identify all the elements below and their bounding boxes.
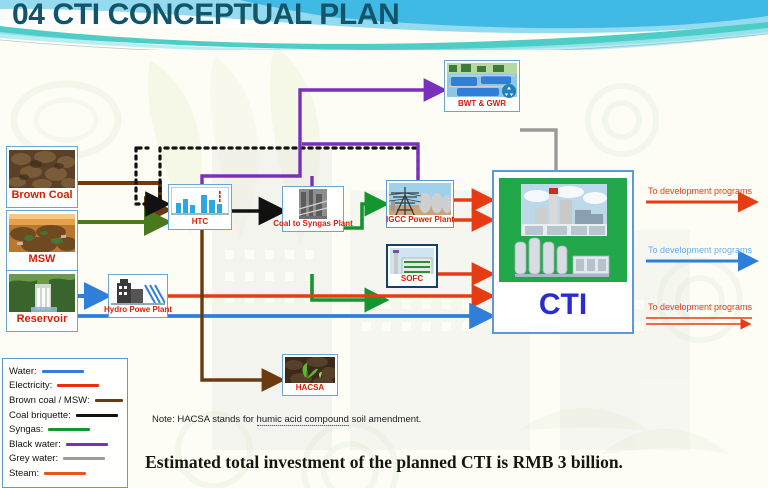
wire-browncoal-to-htc — [78, 183, 168, 210]
page-title: 04 CTI CONCEPTUAL PLAN — [12, 0, 399, 32]
node-cti[interactable]: CTI — [492, 170, 634, 334]
slide-header: 04 CTI CONCEPTUAL PLAN — [0, 0, 768, 48]
node-msw[interactable]: MSW — [6, 210, 78, 272]
node-label: Coal to Syngas Plant — [272, 219, 354, 229]
legend-swatch-blackwater — [66, 443, 108, 446]
node-brown-coal[interactable]: Brown Coal — [6, 146, 78, 208]
footer-statement: Estimated total investment of the planne… — [0, 452, 768, 473]
node-reservoir[interactable]: Reservoir — [6, 270, 78, 332]
node-label: MSW — [28, 254, 57, 264]
node-label: HTC — [191, 217, 209, 227]
legend-label: Brown coal / MSW: — [9, 395, 90, 406]
node-htc[interactable]: HTC — [168, 184, 232, 230]
dam-reservoir-photo — [9, 274, 75, 312]
fuel-cell-plant-photo — [390, 248, 434, 274]
water-treatment-photo — [447, 63, 517, 99]
output-label-3: To development programs — [648, 302, 752, 312]
seedling-soil-photo — [285, 357, 335, 383]
note-suffix: soil amendment. — [349, 414, 421, 425]
legend-label: Coal briquette: — [9, 410, 71, 421]
syngas-plant-photo — [285, 189, 341, 219]
note-prefix: Note: HACSA stands for — [152, 414, 257, 425]
note-text: Note: HACSA stands for humic acid compou… — [152, 414, 421, 425]
hydro-plant-photo — [111, 277, 165, 305]
industrial-complex-photo — [499, 178, 627, 282]
node-label: IGCC Power Plant — [385, 215, 455, 225]
node-label: BWT & GWR — [457, 99, 507, 109]
legend-swatch-syngas — [48, 428, 90, 431]
output-label-1: To development programs — [648, 186, 752, 196]
legend-item: Electricity: — [9, 379, 123, 394]
legend-swatch-electricity — [57, 384, 99, 387]
factory-chart-photo — [171, 187, 229, 217]
legend-label: Electricity: — [9, 380, 52, 391]
legend-label: Syngas: — [9, 424, 43, 435]
legend-item: Brown coal / MSW: — [9, 393, 123, 408]
legend-swatch-water — [42, 370, 84, 373]
legend-label: Water: — [9, 366, 37, 377]
recycle-icon — [502, 84, 516, 98]
node-sofc[interactable]: SOFC — [386, 244, 438, 288]
legend-item: Coal briquette: — [9, 408, 123, 423]
slide-root: 04 CTI CONCEPTUAL PLAN — [0, 0, 768, 488]
node-label: HACSA — [295, 383, 325, 393]
node-bwt-gwr[interactable]: BWT & GWR — [444, 60, 520, 112]
wire-htc-to-hacsa — [202, 226, 282, 380]
node-label: Hydro Powe Plant — [103, 305, 173, 315]
node-label: Brown Coal — [10, 190, 73, 200]
legend-item: Black water: — [9, 437, 123, 452]
legend-item: Syngas: — [9, 422, 123, 437]
waste-landfill-photo — [9, 214, 75, 252]
power-pylon-photo — [389, 183, 451, 215]
output-label-2: To development programs — [648, 245, 752, 255]
legend-label: Black water: — [9, 439, 61, 450]
legend-item: Water: — [9, 364, 123, 379]
node-igcc-power-plant[interactable]: IGCC Power Plant — [386, 180, 454, 228]
node-label: SOFC — [400, 274, 424, 284]
coal-pile-photo — [9, 150, 75, 188]
node-hacsa[interactable]: HACSA — [282, 354, 338, 396]
legend-swatch-briquette — [76, 414, 118, 417]
cti-label: CTI — [539, 288, 587, 322]
note-term: humic acid compound — [257, 414, 349, 426]
node-label: Reservoir — [16, 314, 69, 324]
node-coal-to-syngas-plant[interactable]: Coal to Syngas Plant — [282, 186, 344, 232]
node-hydro-power-plant[interactable]: Hydro Powe Plant — [108, 274, 168, 318]
legend-swatch-browncoal — [95, 399, 123, 402]
